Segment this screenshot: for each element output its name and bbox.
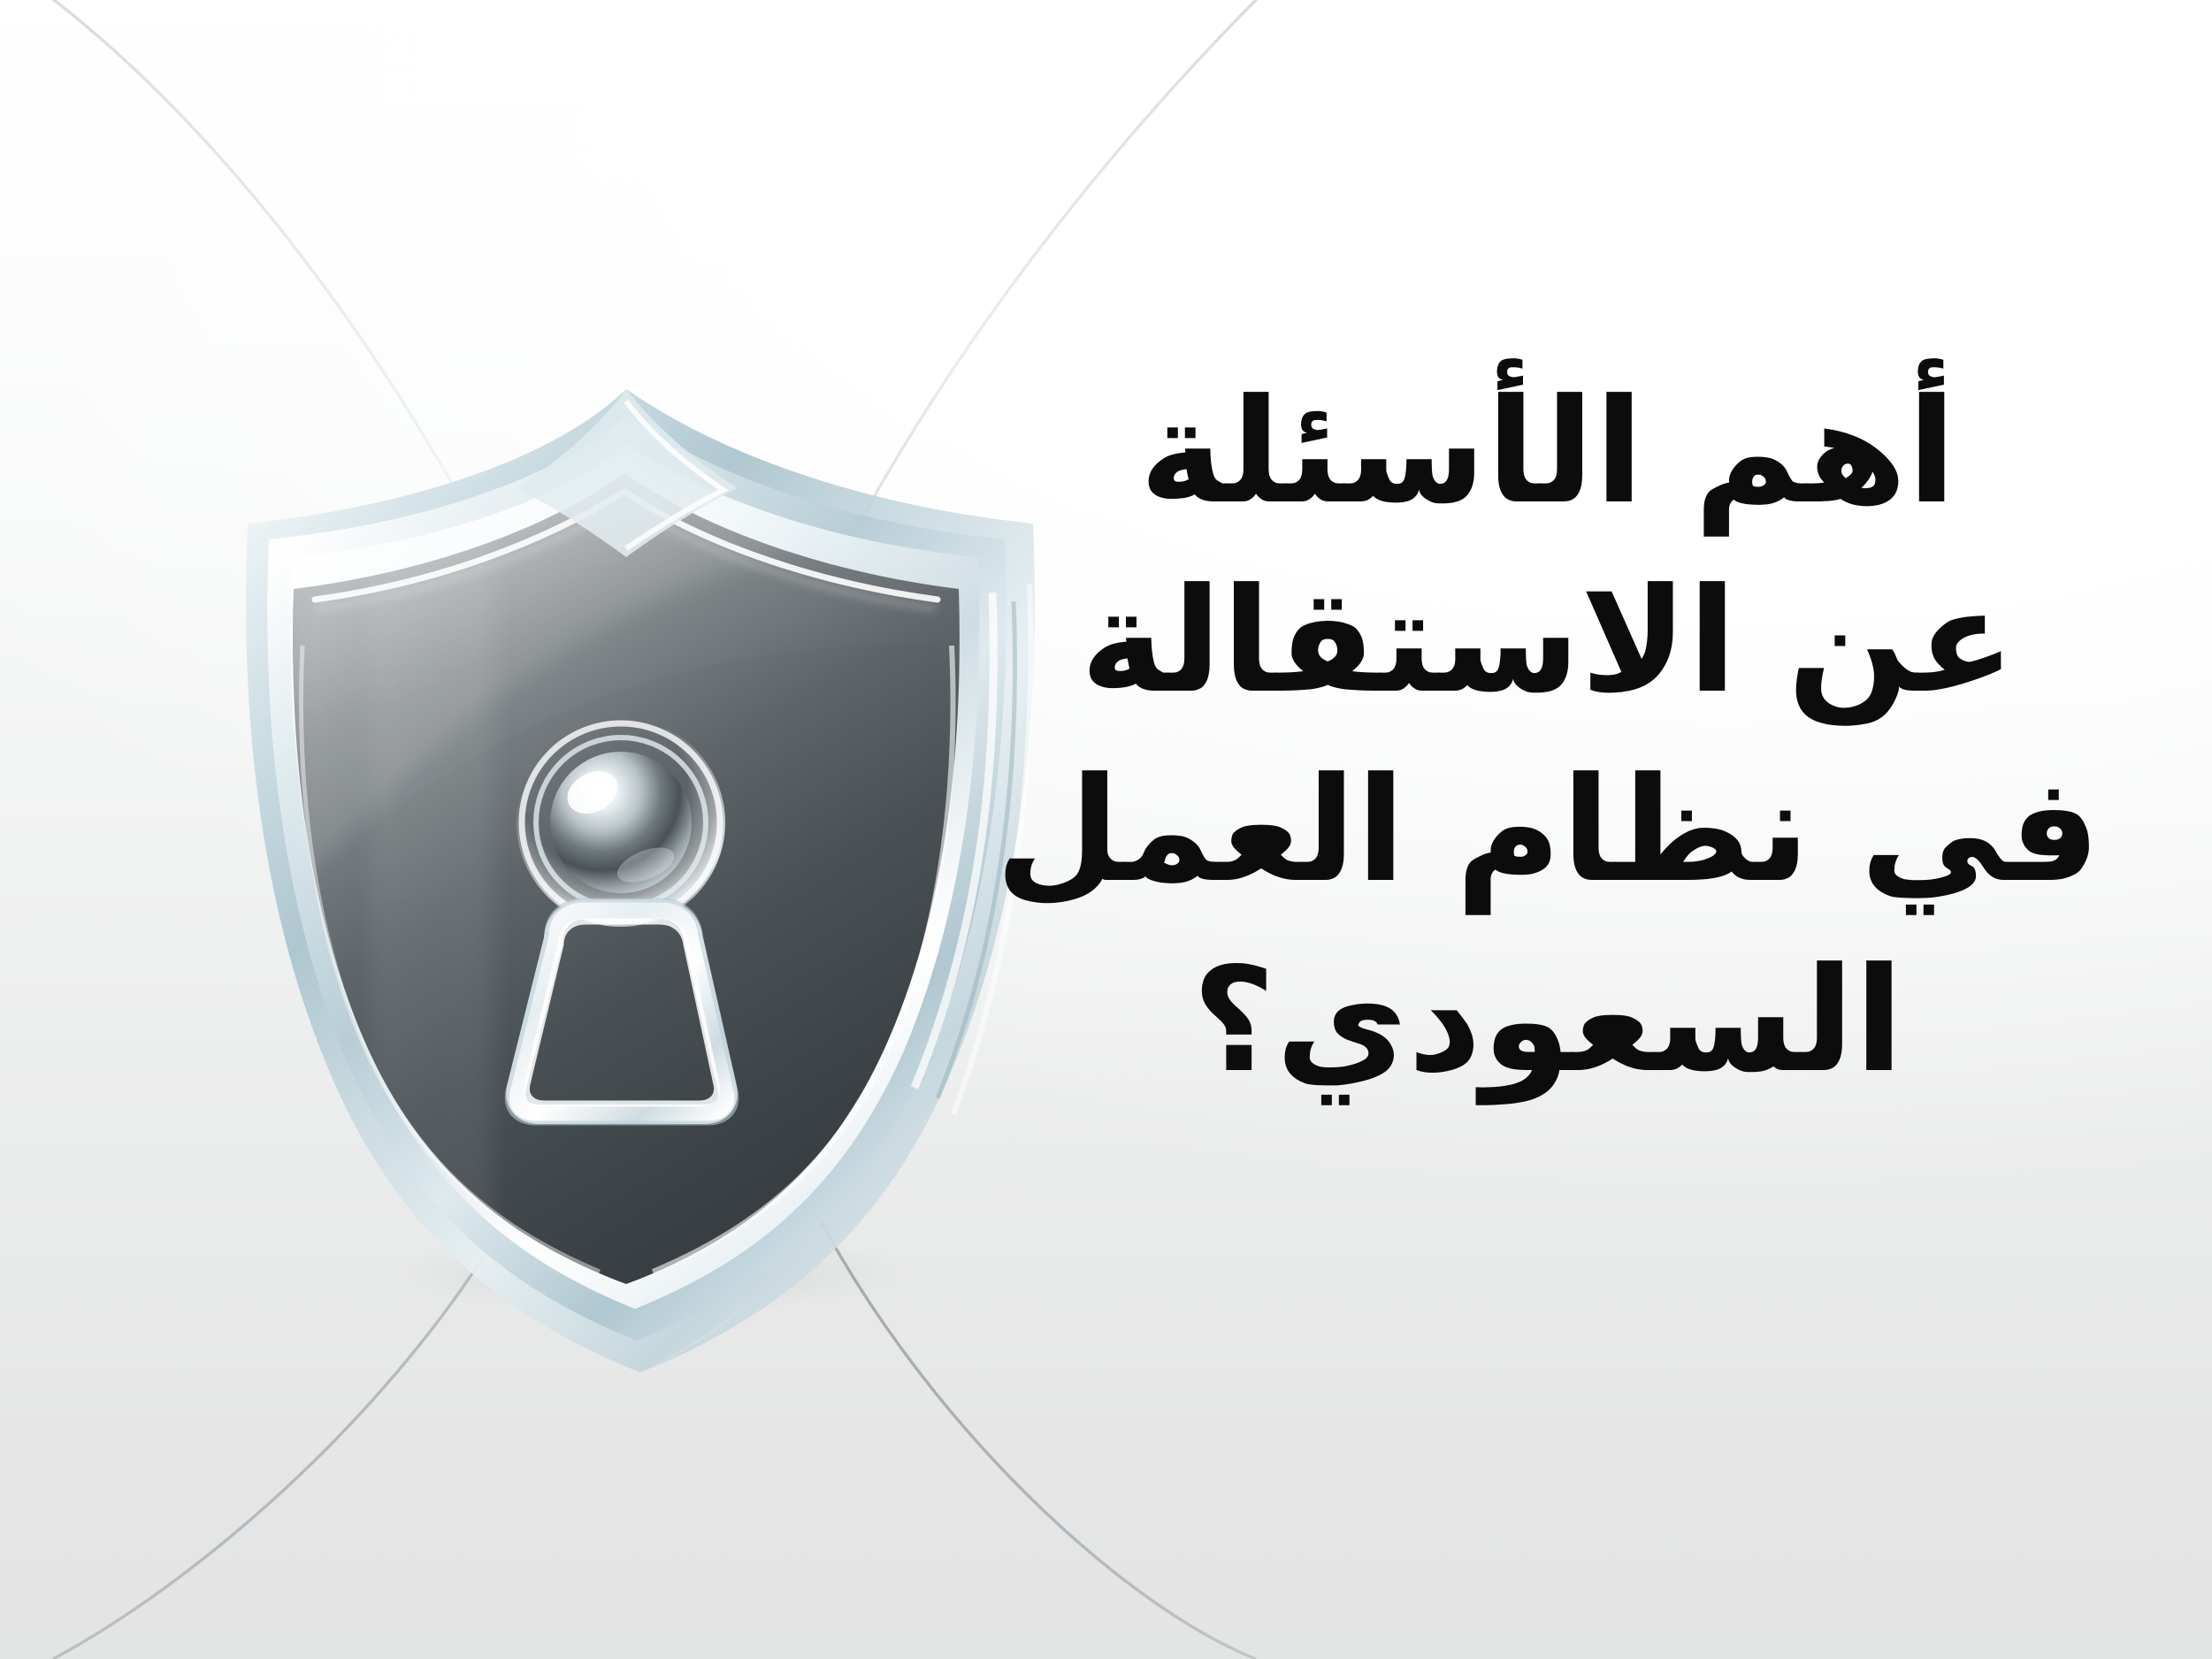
poster-canvas: أهم الأسئلة عن الاستقالة في نظام العمل ا… bbox=[0, 0, 2212, 1659]
shield-graphic bbox=[210, 380, 1077, 1300]
headline-line-3: في نظام العمل bbox=[968, 730, 2127, 932]
headline-line-2: عن الاستقالة bbox=[968, 541, 2127, 743]
page-title: أهم الأسئلة عن الاستقالة في نظام العمل ا… bbox=[968, 352, 2127, 1122]
shield-with-person-icon bbox=[210, 380, 1077, 1300]
headline-line-1: أهم الأسئلة bbox=[968, 352, 2127, 554]
headline-line-4: السعودي؟ bbox=[968, 921, 2127, 1122]
